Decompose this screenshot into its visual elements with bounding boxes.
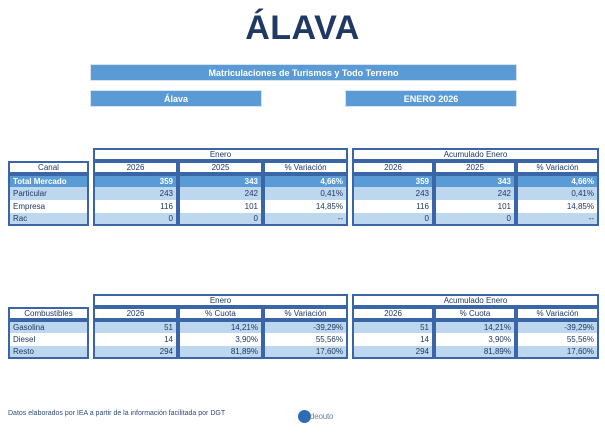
table-cell: 0,41% — [516, 187, 599, 200]
table-cell: 4,66% — [263, 174, 348, 187]
table-cell: -- — [516, 213, 599, 226]
column-header: % Variación — [263, 307, 348, 320]
table-cell: 14 — [93, 333, 178, 346]
group-header-row: EneroAcumulado Enero — [8, 148, 599, 161]
table-cell: 101 — [178, 200, 263, 213]
table-cell: 51 — [352, 320, 434, 333]
table-cell: 14,85% — [263, 200, 348, 213]
table-cell: 14,21% — [178, 320, 263, 333]
table-cell: 55,56% — [516, 333, 599, 346]
table-cell: 0 — [178, 213, 263, 226]
table-cell: 0 — [434, 213, 516, 226]
table-cell: 359 — [93, 174, 178, 187]
table-row: Rac00--00-- — [8, 213, 599, 226]
table-row: Diesel143,90%55,56%143,90%55,56% — [8, 333, 599, 346]
banner-main-title: Matriculaciones de Turismos y Todo Terre… — [90, 64, 517, 81]
table-row: Resto29481,89%17,60%29481,89%17,60% — [8, 346, 599, 359]
group-header-acumulado: Acumulado Enero — [352, 294, 599, 307]
table-cell: 343 — [178, 174, 263, 187]
table-cell: 14,85% — [516, 200, 599, 213]
table-cell: 359 — [352, 174, 434, 187]
row-label: Empresa — [8, 200, 89, 213]
column-header: 2026 — [352, 161, 434, 174]
table-cell: 14,21% — [434, 320, 516, 333]
table-canal-body: EneroAcumulado EneroCanal20262025% Varia… — [8, 148, 599, 226]
column-header: % Cuota — [178, 307, 263, 320]
group-header-enero: Enero — [93, 148, 348, 161]
group-header-acumulado: Acumulado Enero — [352, 148, 599, 161]
column-header-row: Combustibles2026% Cuota% Variación2026% … — [8, 307, 599, 320]
row-label: Rac — [8, 213, 89, 226]
banner-region: Álava — [90, 90, 262, 107]
table-cell: -39,29% — [263, 320, 348, 333]
table-cell: 3,90% — [178, 333, 263, 346]
table-cell: 243 — [352, 187, 434, 200]
column-header: 2026 — [93, 307, 178, 320]
table-cell: 3,90% — [434, 333, 516, 346]
table-cell: 51 — [93, 320, 178, 333]
table-cell: 294 — [352, 346, 434, 359]
column-header-row: Canal20262025% Variación20262025% Variac… — [8, 161, 599, 174]
table-row: Total Mercado3593434,66%3593434,66% — [8, 174, 599, 187]
table-cell: 242 — [434, 187, 516, 200]
footer-note: Datos elaborados por IEA a partir de la … — [8, 410, 225, 417]
table-cell: 17,60% — [516, 346, 599, 359]
row-label: Gasolina — [8, 320, 89, 333]
column-header: % Variación — [516, 307, 599, 320]
table-cell: -39,29% — [516, 320, 599, 333]
table-row: Particular2432420,41%2432420,41% — [8, 187, 599, 200]
row-label: Particular — [8, 187, 89, 200]
table-cell: 116 — [352, 200, 434, 213]
table-cell: 81,89% — [178, 346, 263, 359]
table-cell: 0 — [352, 213, 434, 226]
column-header: % Cuota — [434, 307, 516, 320]
table-cell: 343 — [434, 174, 516, 187]
table-cell: 17,60% — [263, 346, 348, 359]
group-header-enero: Enero — [93, 294, 348, 307]
table-combustibles: EneroAcumulado EneroCombustibles2026% Cu… — [8, 294, 599, 359]
table-cell: 294 — [93, 346, 178, 359]
table-cell: 242 — [178, 187, 263, 200]
row-label: Total Mercado — [8, 174, 89, 187]
table-combustibles-body: EneroAcumulado EneroCombustibles2026% Cu… — [8, 294, 599, 359]
table-cell: 14 — [352, 333, 434, 346]
row-label: Diesel — [8, 333, 89, 346]
column-header-rowlabel: Canal — [8, 161, 89, 174]
column-header: 2025 — [178, 161, 263, 174]
table-cell: -- — [263, 213, 348, 226]
row-label: Resto — [8, 346, 89, 359]
table-cell: 81,89% — [434, 346, 516, 359]
table-cell: 55,56% — [263, 333, 348, 346]
group-header-row: EneroAcumulado Enero — [8, 294, 599, 307]
column-header-rowlabel: Combustibles — [8, 307, 89, 320]
table-cell: 101 — [434, 200, 516, 213]
column-header: 2026 — [352, 307, 434, 320]
page-title: ÁLAVA — [0, 6, 605, 50]
table-row: Gasolina5114,21%-39,29%5114,21%-39,29% — [8, 320, 599, 333]
table-canal: EneroAcumulado EneroCanal20262025% Varia… — [8, 148, 599, 226]
logo-wordmark: deouto — [310, 412, 333, 421]
table-cell: 243 — [93, 187, 178, 200]
table-row: Empresa11610114,85%11610114,85% — [8, 200, 599, 213]
table-corner-spacer — [8, 148, 89, 161]
table-cell: 0 — [93, 213, 178, 226]
banner-period: ENERO 2026 — [345, 90, 517, 107]
table-cell: 4,66% — [516, 174, 599, 187]
column-header: % Variación — [516, 161, 599, 174]
table-corner-spacer — [8, 294, 89, 307]
column-header: 2025 — [434, 161, 516, 174]
column-header: 2026 — [93, 161, 178, 174]
table-cell: 0,41% — [263, 187, 348, 200]
table-cell: 116 — [93, 200, 178, 213]
deouto-logo: deouto — [298, 409, 354, 425]
column-header: % Variación — [263, 161, 348, 174]
